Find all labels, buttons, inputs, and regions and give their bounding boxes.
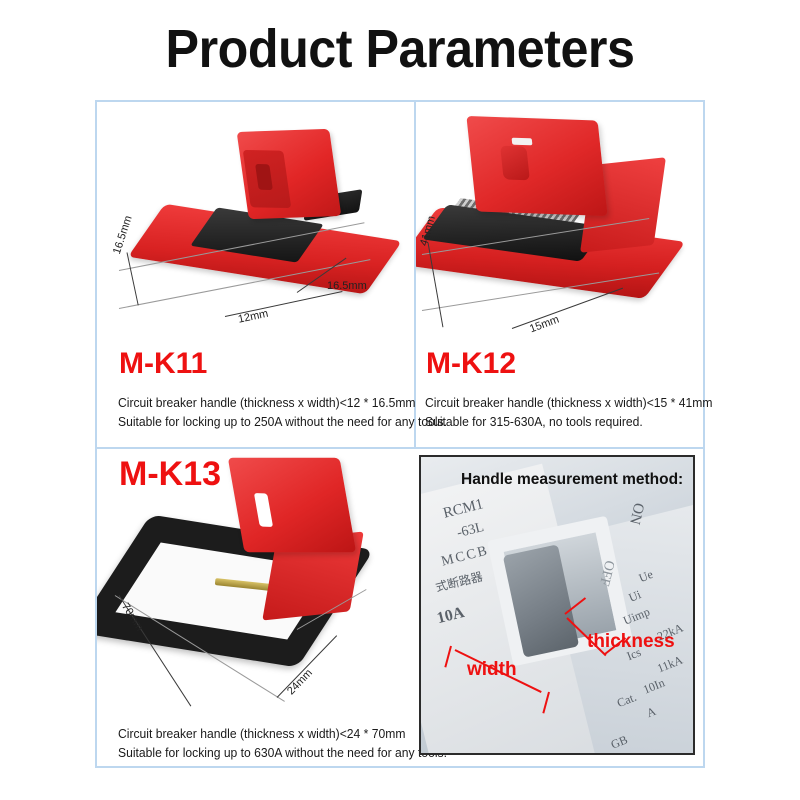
mk12-knob <box>500 146 530 181</box>
product-cell-mk12: 41mm 15mm M-K12 Circuit breaker handle (… <box>416 102 703 447</box>
mk12-dimension-right: 15mm <box>528 314 561 336</box>
mk12-red-cap <box>466 116 607 216</box>
description-mk12-line1: Circuit breaker handle (thickness x widt… <box>425 394 712 412</box>
description-mk12-line2: Suitable for 315-630A, no tools required… <box>425 413 712 431</box>
product-cell-mk11: 16.5mm 12mm 16.5mm M-K11 Circuit breaker… <box>97 102 414 447</box>
description-mk13-line1: Circuit breaker handle (thickness x widt… <box>118 725 447 743</box>
product-parameters-page: Product Parameters 16.5mm 12mm 16.5mm M-… <box>0 0 800 800</box>
mk11-dim-line-left <box>127 252 139 305</box>
mk11-dimension-right: 16.5mm <box>327 280 367 292</box>
width-callout-label: width <box>467 659 517 681</box>
mk11-dimension-bottom: 12mm <box>237 308 269 326</box>
mk11-dimension-left: 16.5mm <box>111 214 135 256</box>
thickness-callout-label: thickness <box>587 631 675 653</box>
description-mk12: Circuit breaker handle (thickness x widt… <box>425 394 712 432</box>
description-mk13-line2: Suitable for locking up to 630A without … <box>118 744 447 762</box>
measurement-photo-cell: RCM1 -63L MCCB 式断路器 10A ON OFF Ue Ui Uim… <box>416 449 703 766</box>
model-label-mk12: M-K12 <box>426 347 516 381</box>
description-mk11: Circuit breaker handle (thickness x widt… <box>118 394 447 432</box>
mk13-red-cap <box>228 458 356 553</box>
product-image-mk11: 16.5mm 12mm 16.5mm <box>97 102 414 352</box>
photo-heading: Handle measurement method: <box>461 471 683 489</box>
model-label-mk11: M-K11 <box>119 347 207 381</box>
page-title: Product Parameters <box>28 18 772 80</box>
product-image-mk13: 70mm 24mm <box>97 449 414 719</box>
measurement-photo: RCM1 -63L MCCB 式断路器 10A ON OFF Ue Ui Uim… <box>419 455 695 755</box>
product-image-mk12: 41mm 15mm <box>416 102 703 352</box>
description-mk11-line1: Circuit breaker handle (thickness x widt… <box>118 394 447 412</box>
product-cell-mk13: M-K13 70mm 24mm Circuit breaker handle (… <box>97 449 414 766</box>
description-mk13: Circuit breaker handle (thickness x widt… <box>118 725 447 763</box>
mk12-lock-slot <box>512 138 533 146</box>
description-mk11-line2: Suitable for locking up to 250A without … <box>118 413 447 431</box>
